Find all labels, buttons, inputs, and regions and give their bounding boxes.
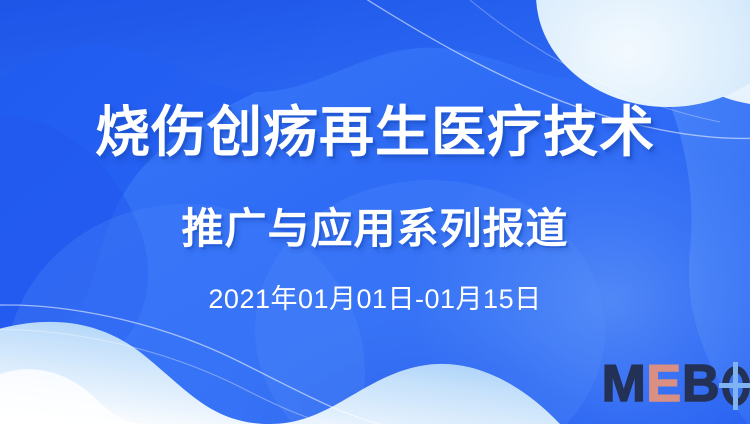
logo-letter-e: E	[646, 360, 680, 408]
page-subtitle: 推广与应用系列报道	[0, 204, 750, 254]
mebo-logo: M E B	[602, 354, 732, 408]
medical-cross-icon-vertical	[733, 362, 738, 410]
promo-banner: 烧伤创疡再生医疗技术 推广与应用系列报道 2021年01月01日-01月15日 …	[0, 0, 750, 424]
page-title: 烧伤创疡再生医疗技术	[0, 101, 750, 163]
logo-letter-m: M	[602, 360, 645, 408]
logo-letter-b: B	[682, 360, 719, 408]
banner-content: 烧伤创疡再生医疗技术 推广与应用系列报道 2021年01月01日-01月15日 …	[0, 0, 750, 424]
date-range-label: 2021年01月01日-01月15日	[0, 282, 750, 316]
logo-letter-o	[722, 364, 732, 408]
